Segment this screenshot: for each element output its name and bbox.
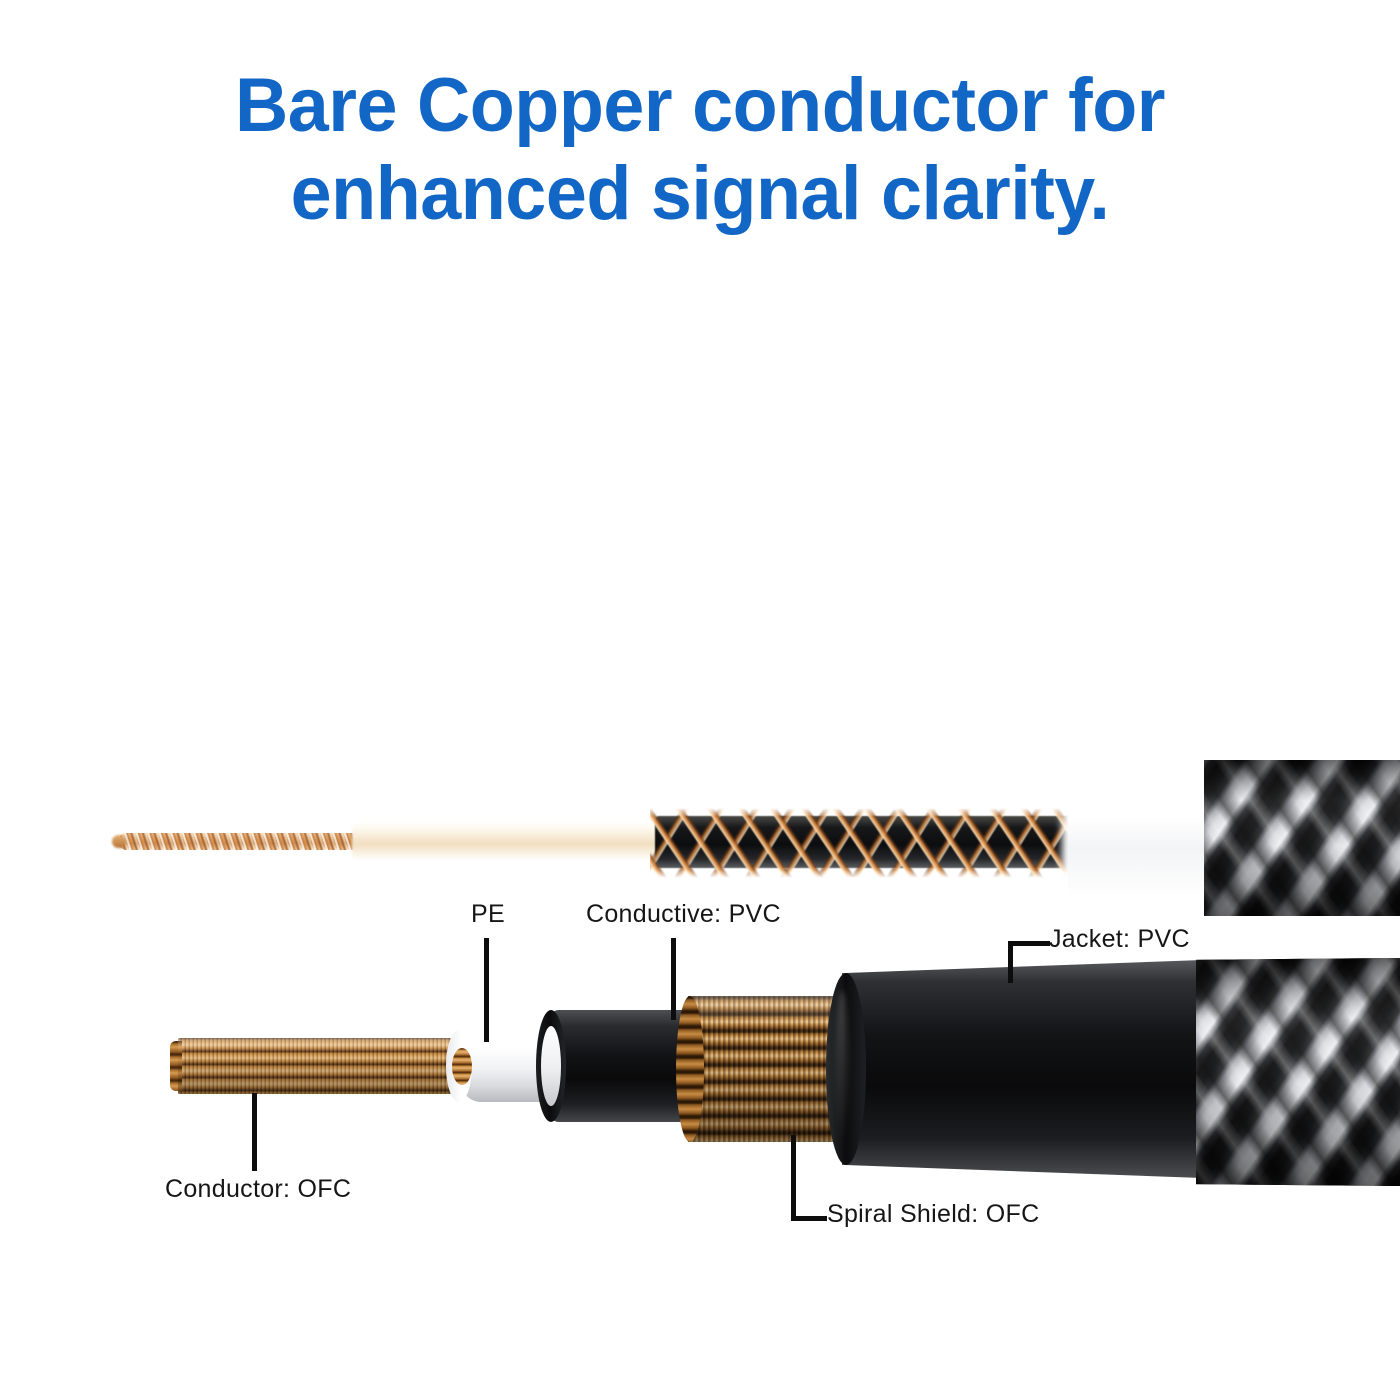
label-pe: PE: [471, 900, 505, 929]
diagram-pe-core-opening: [452, 1048, 472, 1085]
diagram-spiral-shield-end-cap: [676, 996, 704, 1142]
leader-line-conductive-pvc: [671, 938, 676, 1020]
braid-shading-overlay: [1196, 958, 1400, 1186]
label-spiral-shield-ofc: Spiral Shield: OFC: [827, 1200, 1039, 1229]
cable-construction-diagram: PE Conductive: PVC Jacket: PVC Conductor…: [0, 0, 1400, 1400]
leader-line-jacket-horizontal: [1008, 941, 1050, 946]
label-conductive-pvc: Conductive: PVC: [586, 900, 781, 929]
leader-line-shield-vertical: [791, 1135, 796, 1221]
label-jacket-pvc: Jacket: PVC: [1049, 925, 1190, 954]
label-conductor-ofc: Conductor: OFC: [165, 1175, 351, 1204]
leader-line-conductor: [252, 1093, 257, 1171]
leader-line-jacket-vertical: [1008, 941, 1013, 983]
diagram-braided-sleeve: [1196, 958, 1400, 1186]
diagram-conductor-strands: [178, 1038, 478, 1094]
leader-line-shield-horizontal: [791, 1216, 827, 1221]
diagram-pvc-jacket: [842, 960, 1202, 1178]
diagram-spiral-shield-band: [688, 996, 848, 1142]
diagram-pvc-jacket-highlight: [836, 990, 848, 1140]
diagram-conductive-pvc-inner-opening: [541, 1026, 561, 1106]
leader-line-pe: [484, 938, 489, 1042]
